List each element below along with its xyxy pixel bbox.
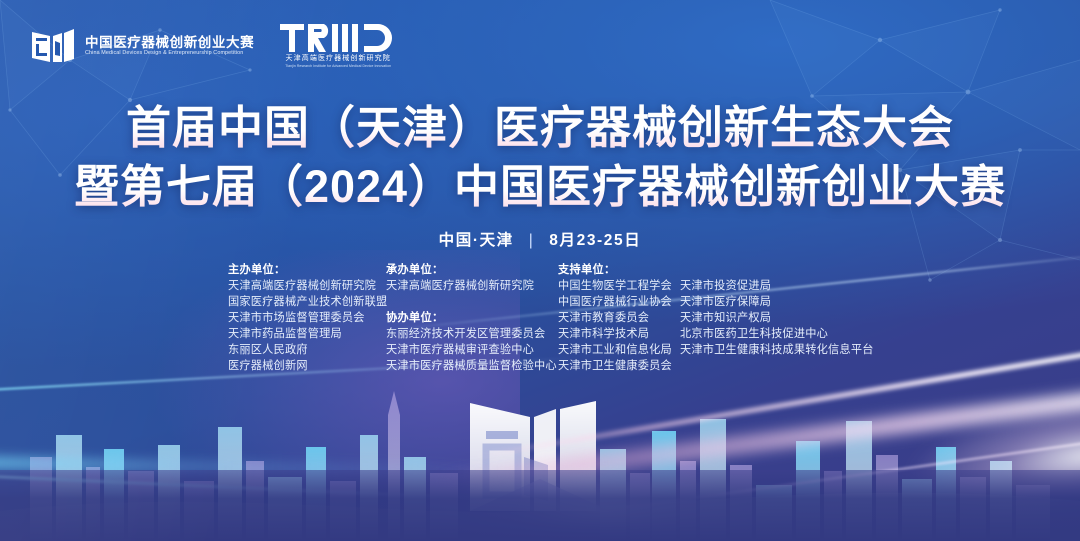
institute-logo: 天津高端医疗器械创新研究院 Tianjin Research Institute… <box>280 24 396 68</box>
org-item: 天津市投资促进局 <box>680 278 900 294</box>
org-item: 国家医疗器械产业技术创新联盟 <box>228 294 386 310</box>
org-item: 东丽区人民政府 <box>228 342 386 358</box>
competition-logo: 中国医疗器械创新创业大赛 China Medical Devices Desig… <box>30 26 254 66</box>
org-section-heading: 支持单位： <box>558 262 680 278</box>
org-item: 天津高端医疗器械创新研究院 <box>228 278 386 294</box>
org-item: 天津市卫生健康委员会 <box>558 358 680 374</box>
organizations-block: 主办单位：天津高端医疗器械创新研究院国家医疗器械产业技术创新联盟天津市市场监督管… <box>228 262 900 374</box>
org-item: 中国医疗器械行业协会 <box>558 294 680 310</box>
institute-logo-sub-en: Tianjin Research Institute for Advanced … <box>285 65 391 68</box>
conference-banner: 中国医疗器械创新创业大赛 China Medical Devices Desig… <box>0 0 1080 541</box>
org-item: 医疗器械创新网 <box>228 358 386 374</box>
org-item: 天津市教育委员会 <box>558 310 680 326</box>
org-item: 天津市药品监督管理局 <box>228 326 386 342</box>
city-skyline <box>0 361 1080 541</box>
org-item: 东丽经济技术开发区管理委员会 <box>386 326 558 342</box>
organizer-column-undertaker: 承办单位：天津高端医疗器械创新研究院协办单位：东丽经济技术开发区管理委员会天津市… <box>386 262 558 374</box>
organizer-column-host: 主办单位：天津高端医疗器械创新研究院国家医疗器械产业技术创新联盟天津市市场监督管… <box>228 262 386 374</box>
banner-header: 中国医疗器械创新创业大赛 China Medical Devices Desig… <box>30 24 396 68</box>
org-item: 天津市市场监督管理委员会 <box>228 310 386 326</box>
triid-wordmark-icon <box>280 24 396 52</box>
title-line-1: 首届中国（天津）医疗器械创新生态大会 <box>0 98 1080 157</box>
org-section-heading: 承办单位： <box>386 262 558 278</box>
org-item: 天津市卫生健康科技成果转化信息平台 <box>680 342 900 358</box>
org-item: 天津市医疗器械审评查验中心 <box>386 342 558 358</box>
org-item: 天津市医疗器械质量监督检验中心 <box>386 358 558 374</box>
date-text: 8月23-25日 <box>549 232 641 249</box>
location-text: 中国·天津 <box>439 232 514 249</box>
org-item: 天津高端医疗器械创新研究院 <box>386 278 558 294</box>
org-item: 天津市工业和信息化局 <box>558 342 680 358</box>
org-item: 北京市医药卫生科技促进中心 <box>680 326 900 342</box>
date-location-bar: 中国·天津 | 8月23-25日 <box>0 228 1080 250</box>
institute-logo-sub-cn: 天津高端医疗器械创新研究院 <box>286 55 391 62</box>
organizer-column-supporter: 支持单位：中国生物医学工程学会中国医疗器械行业协会天津市教育委员会天津市科学技术… <box>558 262 680 374</box>
center-landmark <box>470 401 610 511</box>
title-line-2: 暨第七届（2024）中国医疗器械创新创业大赛 <box>0 157 1080 216</box>
org-section-heading: 协办单位： <box>386 310 558 326</box>
organizer-column-supporter-2: 天津市投资促进局天津市医疗保障局天津市知识产权局北京市医药卫生科技促进中心天津市… <box>680 262 900 374</box>
org-item: 天津市科学技术局 <box>558 326 680 342</box>
org-item: 天津市知识产权局 <box>680 310 900 326</box>
open-book-door-mark-icon <box>30 26 76 66</box>
org-item: 中国生物医学工程学会 <box>558 278 680 294</box>
competition-logo-cn: 中国医疗器械创新创业大赛 <box>85 36 254 50</box>
main-title-block: 首届中国（天津）医疗器械创新生态大会 暨第七届（2024）中国医疗器械创新创业大… <box>0 98 1080 217</box>
separator: | <box>529 232 535 250</box>
org-item: 天津市医疗保障局 <box>680 294 900 310</box>
org-section-heading: 主办单位： <box>228 262 386 278</box>
section-gap <box>386 294 558 310</box>
competition-logo-en: China Medical Devices Design & Entrepren… <box>85 51 254 56</box>
